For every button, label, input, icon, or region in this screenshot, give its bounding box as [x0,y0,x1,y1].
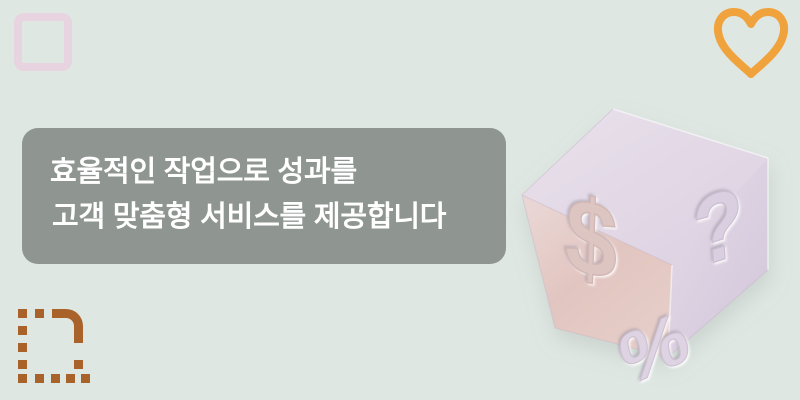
headline-line-1: 효율적인 작업으로 성과를 [50,150,480,195]
svg-text:$: $ [563,173,619,304]
3d-cube-icon: $ ? % [500,60,800,400]
promo-banner: 효율적인 작업으로 성과를 고객 맞춤형 서비스를 제공합니다 [0,0,800,400]
dashed-corner-bracket-icon [18,305,90,383]
svg-text:?: ? [690,166,748,290]
cube-face-symbol-dollar: $ [563,173,619,304]
cube-face-symbol-question: ? [690,166,748,290]
headline-plate: 효율적인 작업으로 성과를 고객 맞춤형 서비스를 제공합니다 [22,128,506,264]
rounded-square-outline-icon [14,13,72,71]
headline-line-2: 고객 맞춤형 서비스를 제공합니다 [50,195,480,240]
